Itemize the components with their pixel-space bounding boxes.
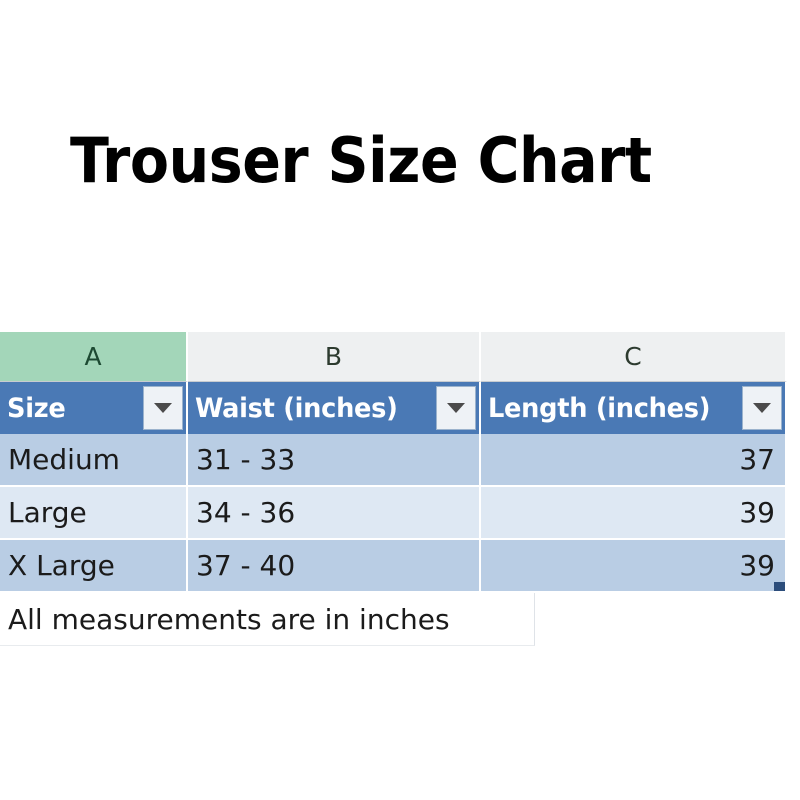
page-title: Trouser Size Chart	[70, 128, 652, 193]
cell-length[interactable]: 39	[481, 487, 787, 540]
cell-waist[interactable]: 37 - 40	[188, 540, 481, 593]
footnote-row: All measurements are in inches	[0, 593, 787, 646]
cell-length[interactable]: 37	[481, 434, 787, 487]
column-header-b[interactable]: B	[188, 332, 481, 382]
header-cell-length[interactable]: Length (inches)	[481, 382, 787, 434]
filter-dropdown-waist[interactable]	[436, 386, 476, 430]
column-header-row: A B C	[0, 332, 787, 382]
fill-handle[interactable]	[774, 582, 785, 593]
table-row: Medium 31 - 33 37	[0, 434, 787, 487]
chevron-down-icon	[447, 403, 465, 413]
header-label-waist: Waist (inches)	[195, 393, 398, 424]
chevron-down-icon	[753, 403, 771, 413]
filter-dropdown-length[interactable]	[742, 386, 782, 430]
table-header-row: Size Waist (inches) Length (inches)	[0, 382, 787, 434]
column-header-a[interactable]: A	[0, 332, 188, 382]
size-chart-table: A B C Size Waist (inches) Length (inches…	[0, 332, 787, 646]
cell-length[interactable]: 39	[481, 540, 787, 593]
cell-size[interactable]: Medium	[0, 434, 188, 487]
cell-waist[interactable]: 34 - 36	[188, 487, 481, 540]
header-cell-size[interactable]: Size	[0, 382, 188, 434]
header-label-length: Length (inches)	[488, 393, 710, 424]
filter-dropdown-size[interactable]	[143, 386, 183, 430]
cell-size[interactable]: Large	[0, 487, 188, 540]
table-row: X Large 37 - 40 39	[0, 540, 787, 593]
table-row: Large 34 - 36 39	[0, 487, 787, 540]
cell-size[interactable]: X Large	[0, 540, 188, 593]
footnote-text[interactable]: All measurements are in inches	[0, 593, 535, 646]
header-label-size: Size	[7, 393, 65, 424]
chevron-down-icon	[154, 403, 172, 413]
cell-waist[interactable]: 31 - 33	[188, 434, 481, 487]
header-cell-waist[interactable]: Waist (inches)	[188, 382, 481, 434]
column-header-c[interactable]: C	[481, 332, 787, 382]
